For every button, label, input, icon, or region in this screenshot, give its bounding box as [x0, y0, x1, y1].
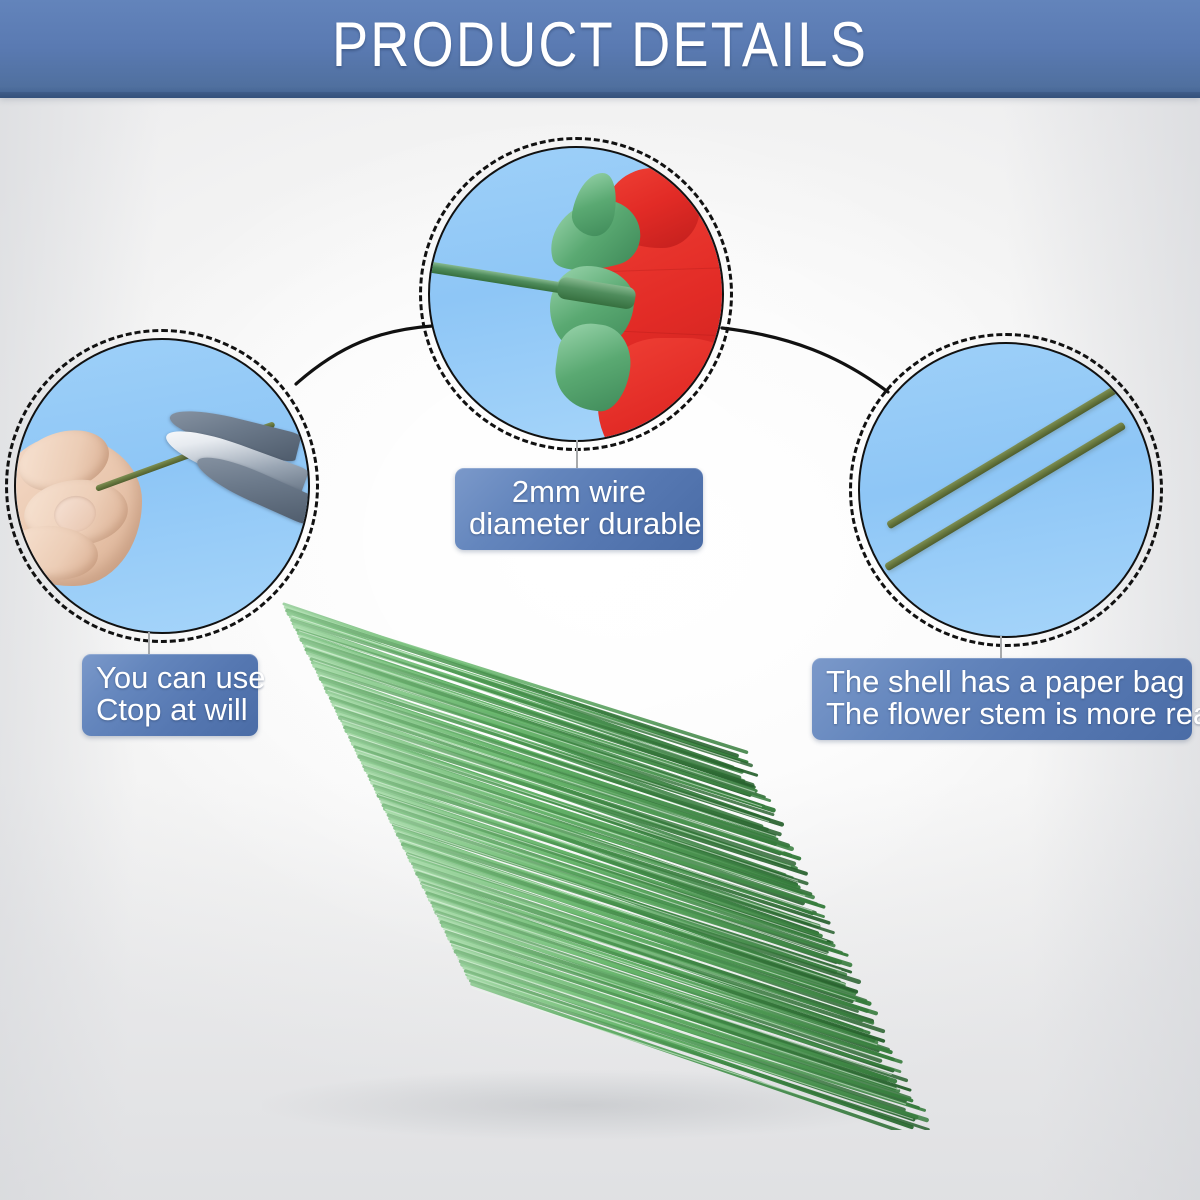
callout-circle-right — [858, 342, 1154, 638]
wire-stem — [315, 666, 774, 811]
connector-center-to-right — [722, 328, 888, 392]
wire-stem — [400, 838, 853, 992]
wire-stem — [310, 656, 770, 801]
wire-stem-highlight — [429, 899, 877, 1045]
circle-photo-frame — [14, 338, 310, 634]
wire-stem — [382, 802, 834, 946]
wire-stem — [292, 620, 751, 765]
wire-stem — [408, 854, 852, 1001]
wire-stem — [299, 633, 755, 787]
header-banner: PRODUCT DETAILS — [0, 0, 1200, 98]
wire-stem — [329, 695, 777, 839]
wire-stem — [427, 893, 883, 1041]
wire-stem — [437, 913, 880, 1061]
wire-stem — [454, 948, 898, 1091]
wire-stem — [380, 799, 841, 953]
wire-stem — [443, 926, 886, 1079]
wire-stem — [450, 939, 895, 1082]
wire-stem-highlight — [443, 929, 891, 1075]
wire-stem — [361, 760, 812, 914]
wire-stem — [364, 766, 815, 913]
wire-stem — [470, 981, 928, 1130]
wire-stem — [311, 659, 758, 805]
wire-stem — [316, 669, 773, 815]
callout-circle-center — [428, 146, 724, 442]
wire-stem — [405, 848, 866, 1002]
wire-stem — [413, 864, 858, 1012]
wire-stem — [445, 929, 900, 1072]
callout-label-left: You can use Ctop at will — [82, 654, 258, 736]
callout-label-left-line-1: You can use — [96, 662, 244, 694]
wire-stem — [469, 978, 927, 1121]
wire-stem — [411, 861, 869, 1004]
wire-stem-highlight — [400, 839, 848, 985]
circle-photo-frame — [428, 146, 724, 442]
wire-stem-highlight — [465, 973, 913, 1119]
wire-stem — [379, 796, 829, 943]
wire-stem-highlight — [364, 765, 812, 911]
callout-label-left-line-2: Ctop at will — [96, 694, 244, 726]
wire-stem — [429, 896, 888, 1049]
wire-stem-highlight — [292, 616, 740, 762]
wire-stem — [385, 809, 840, 963]
wire-stem — [414, 867, 861, 1020]
wire-stem — [287, 611, 737, 756]
wire-stem — [297, 630, 757, 775]
wire-stem — [323, 682, 775, 836]
wire-stem — [433, 906, 893, 1059]
wire-stem — [409, 857, 867, 1011]
callout-label-right: The shell has a paper bag The flower ste… — [812, 658, 1192, 740]
wire-stem — [461, 961, 904, 1110]
wire-stem — [372, 783, 818, 927]
connector-left-to-center — [296, 326, 432, 384]
product-details-infographic: PRODUCT DETAILS — [0, 0, 1200, 1200]
wire-stem-highlight — [350, 735, 798, 881]
wire-stem — [313, 663, 759, 817]
wire-stem — [294, 624, 740, 778]
wire-stem — [363, 763, 824, 907]
wire-stem — [403, 844, 856, 991]
wire-stem — [368, 773, 824, 917]
wire-stem — [340, 718, 794, 864]
wire-stem — [318, 672, 762, 826]
wire-stem — [453, 945, 910, 1098]
wire-stem-highlight — [328, 690, 776, 836]
wire-stem — [395, 828, 839, 982]
wire-stem — [337, 711, 785, 865]
wire-stem — [345, 727, 806, 873]
scene-stem-and-rose — [430, 148, 722, 440]
wire-stem — [416, 870, 876, 1013]
wire-stem — [308, 653, 763, 807]
wire-stem — [303, 643, 764, 797]
wire-stem-highlight — [335, 705, 783, 851]
circle-photo-frame — [858, 342, 1154, 638]
wire-stem — [472, 984, 917, 1130]
wire-stem — [419, 877, 862, 1030]
wire-stem — [356, 750, 816, 904]
wire-stem-highlight — [407, 854, 855, 1000]
chip-stem-right — [1000, 636, 1002, 658]
wire-stem — [388, 815, 835, 962]
wire-stem-highlight — [314, 661, 762, 807]
wire-stem — [458, 955, 919, 1108]
wire-stem — [369, 776, 829, 923]
product-image-wire-bundle — [240, 570, 980, 1130]
wire-stem-highlight — [342, 720, 790, 866]
callout-label-center: 2mm wire diameter durable — [455, 468, 703, 550]
wire-stem — [321, 679, 782, 825]
wire-stem-highlight — [450, 943, 898, 1089]
wire-stem — [324, 685, 767, 829]
wire-stem — [456, 952, 905, 1101]
wire-stem — [326, 688, 780, 834]
wire-stem-highlight — [386, 809, 834, 955]
wire-stem — [446, 932, 906, 1080]
wire-stem — [286, 607, 747, 752]
wire-stem — [401, 841, 844, 984]
wire-stem — [360, 757, 803, 904]
wire-stem-highlight — [306, 646, 754, 792]
wire-stem — [438, 916, 889, 1069]
wire-stem — [425, 890, 869, 1033]
wire-stem — [331, 698, 776, 844]
wire-stem — [300, 637, 743, 782]
wire-stem — [393, 825, 850, 972]
wire-stem — [371, 779, 817, 933]
wire-stem — [350, 737, 807, 883]
wire-stem-highlight — [378, 795, 826, 941]
wire-stem — [442, 922, 893, 1070]
wire-stem-upper — [886, 385, 1120, 530]
wire-stem — [406, 851, 855, 994]
wire-stem-highlight — [393, 824, 841, 970]
wire-stem-highlight — [299, 631, 747, 777]
wire-stem — [302, 640, 753, 785]
wire-stem — [344, 724, 797, 868]
wire-stem — [358, 753, 813, 897]
chip-stem-left — [148, 632, 150, 656]
wire-stem — [424, 887, 874, 1040]
wire-stem — [334, 705, 792, 849]
wire-stem — [448, 935, 895, 1088]
wire-stem — [466, 971, 914, 1120]
wire-stem — [347, 731, 796, 885]
scene-hand-scissors-wire — [16, 340, 308, 632]
wire-stem — [290, 617, 747, 762]
wire-stem — [451, 942, 910, 1090]
wire-stem — [417, 874, 871, 1022]
wire-stem — [284, 604, 736, 758]
wire-stem — [335, 708, 780, 854]
wire-stem — [464, 968, 925, 1111]
wire-stem — [305, 646, 756, 791]
wire-stem — [366, 770, 810, 924]
wire-stem — [355, 747, 802, 893]
product-drop-shadow — [262, 1070, 902, 1140]
wire-stem-highlight — [357, 750, 805, 896]
wire-stem — [432, 903, 878, 1051]
wire-stem-highlight — [371, 780, 819, 926]
wire-stem — [339, 714, 800, 858]
wire-stem — [348, 734, 792, 878]
wire-stem — [387, 812, 847, 955]
wire-stem — [390, 818, 835, 972]
wire-stem — [353, 744, 798, 888]
wire-stem-highlight — [321, 676, 769, 822]
wire-stem — [421, 880, 873, 1023]
wire-stem — [397, 831, 846, 974]
wire-stem-highlight — [472, 988, 920, 1130]
callout-label-right-line-2: The flower stem is more real — [826, 698, 1178, 730]
wire-stem — [377, 792, 821, 936]
wire-stem — [332, 701, 790, 855]
wire-stem — [384, 805, 827, 952]
wire-stem-highlight — [458, 958, 906, 1104]
wire-stem — [307, 650, 750, 795]
wire-stem — [327, 692, 787, 846]
wire-stem — [398, 835, 859, 982]
wire-stem-lower — [884, 421, 1126, 571]
wire-stem — [422, 883, 883, 1031]
wire-stem — [430, 900, 876, 1043]
wire-stem — [459, 958, 911, 1101]
wire-stem — [352, 740, 811, 894]
wire-stem — [440, 919, 901, 1062]
wire-stem — [435, 909, 891, 1052]
wire-stem — [462, 965, 916, 1118]
wire-stem-highlight — [414, 869, 862, 1015]
wire-stem — [289, 614, 733, 768]
wire-stem-highlight — [422, 884, 870, 1030]
scene-two-wire-stems — [860, 344, 1152, 636]
page-title: PRODUCT DETAILS — [84, 9, 1116, 81]
chip-stem-center — [576, 440, 578, 468]
wire-stem — [376, 789, 832, 943]
callout-label-center-line-2: diameter durable — [469, 508, 689, 540]
wire-stem — [467, 974, 912, 1127]
wire-stem — [392, 822, 850, 965]
wire-stem-highlight — [436, 914, 884, 1060]
wire-stem — [319, 676, 768, 820]
wire-stem — [342, 721, 785, 875]
wire-stem — [374, 786, 833, 933]
wire-stem — [295, 627, 742, 772]
callout-label-center-line-1: 2mm wire — [469, 476, 689, 508]
callout-label-right-line-1: The shell has a paper bag — [826, 666, 1178, 698]
callout-circle-left — [14, 338, 310, 634]
